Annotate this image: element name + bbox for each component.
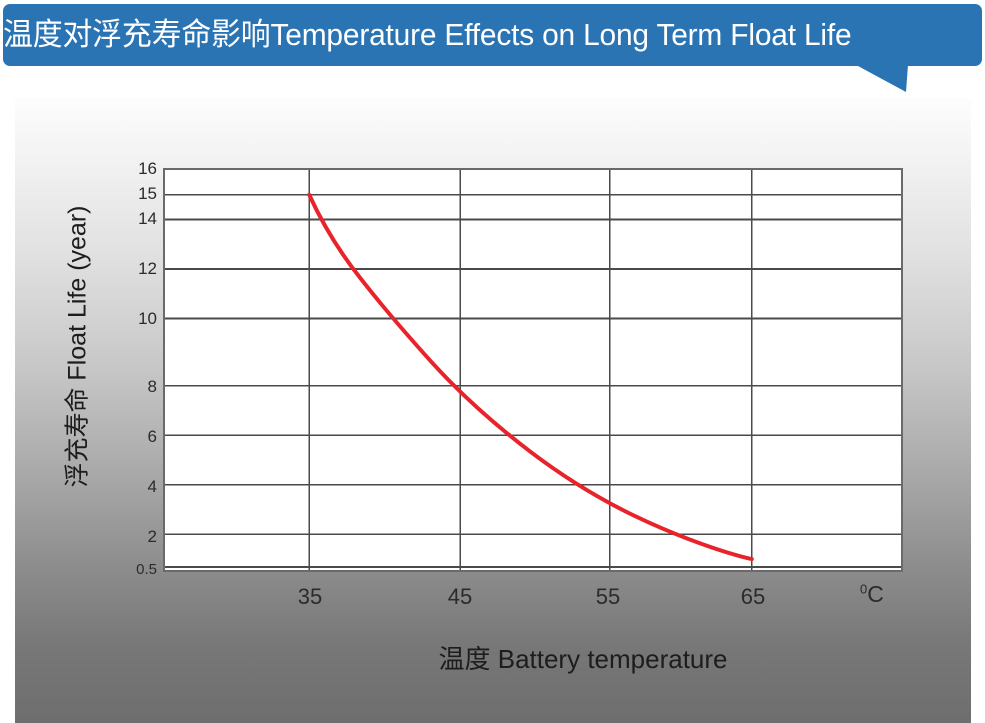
y-tick-2: 2 (148, 528, 157, 545)
y-tick-0-5: 0.5 (136, 562, 157, 577)
header-banner: 温度对浮充寿命影响Temperature Effects on Long Ter… (3, 4, 982, 66)
y-tick-15: 15 (138, 185, 157, 202)
vertical-gridlines (309, 170, 752, 570)
y-tick-16: 16 (138, 160, 157, 177)
plot-svg (165, 170, 901, 570)
page-title: 温度对浮充寿命影响Temperature Effects on Long Ter… (3, 4, 948, 66)
x-tick-65: 65 (723, 586, 783, 608)
y-axis-title: 浮充寿命 Float Life (year) (66, 157, 91, 537)
x-tick-35: 35 (280, 586, 340, 608)
chart-panel: 16 15 14 12 10 8 6 4 2 0.5 (15, 98, 971, 723)
x-axis-title: 温度 Battery temperature (15, 646, 971, 672)
plot-area (163, 168, 903, 572)
x-tick-55: 55 (578, 586, 638, 608)
y-tick-8: 8 (148, 378, 157, 395)
celsius-letter: C (867, 581, 884, 607)
y-tick-12: 12 (138, 260, 157, 277)
float-life-curve (309, 195, 752, 559)
speech-bubble-tail-icon (856, 65, 916, 93)
x-axis-unit-label: 0C (860, 583, 884, 606)
y-tick-6: 6 (148, 428, 157, 445)
y-tick-14: 14 (138, 210, 157, 227)
x-tick-45: 45 (430, 586, 490, 608)
y-axis-tick-labels: 16 15 14 12 10 8 6 4 2 0.5 (113, 98, 157, 723)
y-tick-10: 10 (138, 310, 157, 327)
y-tick-4: 4 (148, 478, 157, 495)
horizontal-gridlines (165, 195, 901, 567)
